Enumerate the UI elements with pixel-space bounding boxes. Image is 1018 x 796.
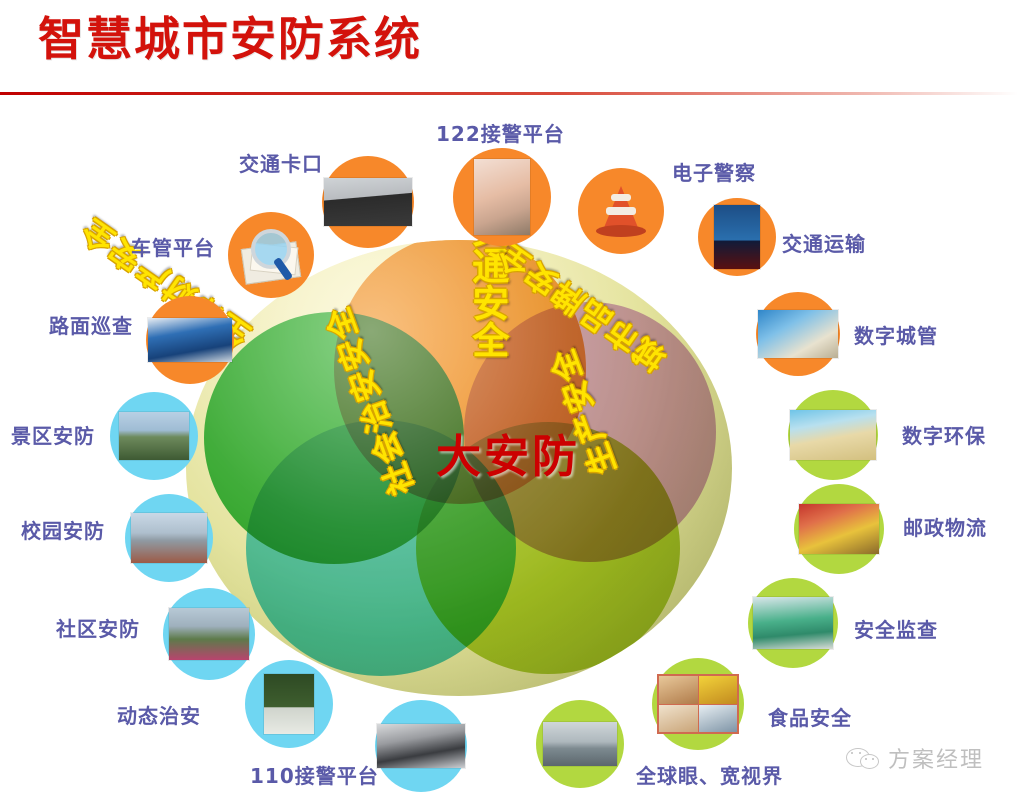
food-grid-photo [657, 674, 739, 734]
node-label-road-patrol: 路面巡查 [49, 310, 133, 339]
node-label-alarm-122: 122接警平台 [436, 118, 565, 147]
operator-photo [474, 159, 530, 235]
node-label-digital-env: 数字环保 [902, 420, 986, 449]
bubble-safety-inspection[interactable] [748, 578, 838, 668]
bubble-digital-city-admin[interactable] [756, 292, 840, 376]
bubble-global-eye[interactable] [536, 700, 624, 788]
camera-pole-photo [264, 674, 314, 734]
production-line-photo [753, 597, 833, 649]
slide-canvas: 智慧城市安防系统 交通安全 生命财产安全 城市品牌安全 社会治安安全 生产安全 … [0, 0, 1018, 796]
traffic-cone-icon [594, 183, 648, 239]
wechat-icon [846, 746, 880, 770]
control-room-photo [758, 310, 838, 358]
node-label-transportation: 交通运输 [782, 228, 866, 257]
bubble-alarm-122[interactable] [453, 148, 551, 246]
node-label-digital-city-admin: 数字城管 [854, 320, 938, 349]
diagram-center-label: 大安防 [418, 420, 598, 485]
warehouse-photo [799, 504, 879, 554]
bubble-community-security[interactable] [163, 588, 255, 680]
car-photo [324, 178, 412, 226]
bubble-road-patrol[interactable] [146, 296, 234, 384]
page-title: 智慧城市安防系统 [38, 16, 422, 62]
bubble-dynamic-policing[interactable] [245, 660, 333, 748]
pagoda-photo [119, 412, 189, 460]
bubble-scenic-security[interactable] [110, 392, 198, 480]
police-car-photo [148, 318, 232, 362]
title-divider [0, 92, 1018, 95]
node-label-postal-logistics: 邮政物流 [903, 512, 987, 541]
node-label-campus-security: 校园安防 [21, 515, 105, 544]
node-label-safety-inspection: 安全监查 [854, 614, 938, 643]
watermark-text: 方案经理 [888, 742, 984, 774]
campus-photo [131, 513, 207, 563]
bubble-campus-security[interactable] [125, 494, 213, 582]
node-label-community-security: 社区安防 [56, 613, 140, 642]
node-label-global-eye: 全球眼、宽视界 [636, 760, 783, 789]
magnifier-icon [241, 227, 301, 283]
dome-camera-photo [543, 722, 617, 766]
node-label-scenic-security: 景区安防 [11, 420, 95, 449]
node-label-dynamic-policing: 动态治安 [117, 700, 201, 729]
bubble-transportation[interactable] [698, 198, 776, 276]
residential-photo [169, 608, 249, 660]
bubble-postal-logistics[interactable] [794, 484, 884, 574]
bubble-traffic-checkpoint[interactable] [322, 156, 414, 248]
bubble-vehicle-admin[interactable] [228, 212, 314, 298]
call-center-photo [377, 724, 465, 768]
node-label-vehicle-admin: 车管平台 [131, 232, 215, 261]
variable-message-sign-photo [714, 205, 760, 269]
node-label-food-safety: 食品安全 [768, 702, 852, 731]
node-label-alarm-110: 110接警平台 [250, 760, 379, 789]
node-label-traffic-checkpoint: 交通卡口 [239, 148, 323, 177]
watermark: 方案经理 [846, 742, 984, 774]
bubble-e-police[interactable] [578, 168, 664, 254]
bubble-digital-env[interactable] [788, 390, 878, 480]
bubble-food-safety[interactable] [652, 658, 744, 750]
bubble-alarm-110[interactable] [375, 700, 467, 792]
node-label-e-police: 电子警察 [672, 157, 756, 186]
environment-photo [790, 410, 876, 460]
